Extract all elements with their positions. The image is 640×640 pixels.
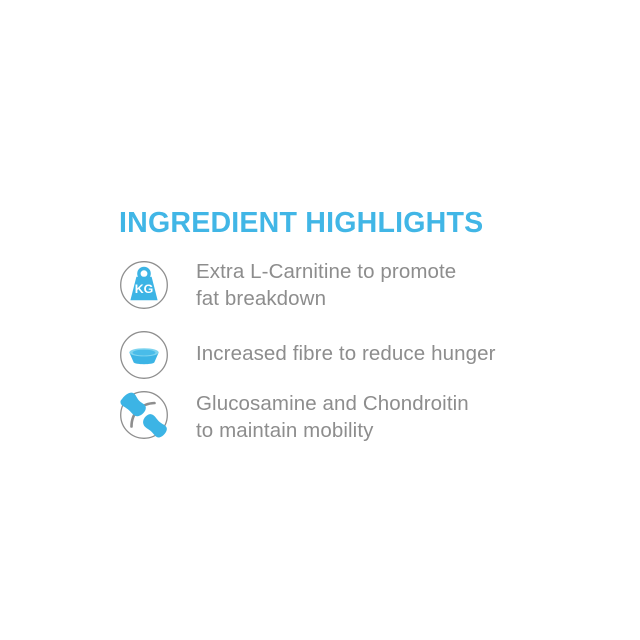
highlight-text-line: fat breakdown	[196, 285, 616, 312]
highlight-text-line: Extra L-Carnitine to promote	[196, 258, 616, 285]
list-item: KG Extra L-Carnitine to promote fat brea…	[0, 254, 640, 324]
weight-icon-kg-label: KG	[135, 282, 154, 296]
page-title: INGREDIENT HIGHLIGHTS	[119, 206, 483, 240]
highlight-text: Extra L-Carnitine to promote fat breakdo…	[196, 258, 616, 312]
highlights-list: KG Extra L-Carnitine to promote fat brea…	[0, 254, 640, 456]
list-item: Increased fibre to reduce hunger	[0, 324, 640, 386]
list-item: Glucosamine and Chondroitin to maintain …	[0, 386, 640, 456]
highlight-text-line: to maintain mobility	[196, 417, 616, 444]
highlight-text: Increased fibre to reduce hunger	[196, 340, 616, 367]
pet-food-bowl-icon	[119, 330, 169, 380]
weight-kg-icon: KG	[119, 260, 169, 310]
ingredient-highlights-panel: INGREDIENT HIGHLIGHTS KG Extra L-Carniti…	[0, 0, 640, 640]
highlight-text: Glucosamine and Chondroitin to maintain …	[196, 390, 616, 444]
highlight-text-line: Increased fibre to reduce hunger	[196, 340, 616, 367]
joint-bone-icon	[119, 390, 169, 440]
highlight-text-line: Glucosamine and Chondroitin	[196, 390, 616, 417]
